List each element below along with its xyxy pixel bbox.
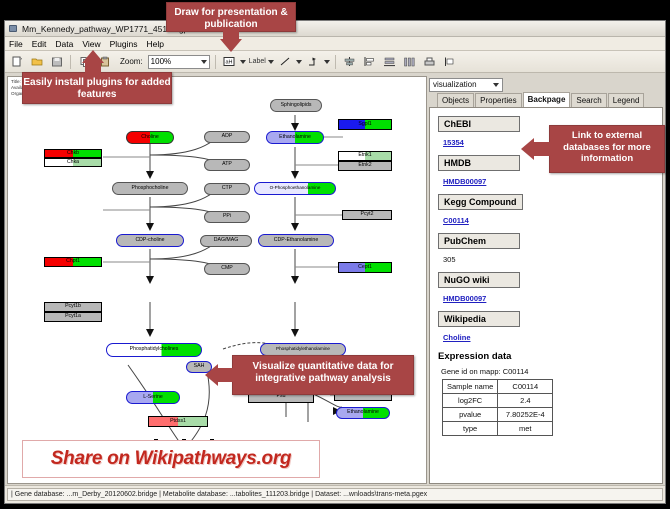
table-cell-key: pvalue xyxy=(443,408,498,422)
node-label: O-Phosphoethanolamine xyxy=(270,186,321,191)
status-bar: | Gene database: ...m_Derby_20120602.bri… xyxy=(5,485,665,503)
gene-chpt1[interactable]: Chpt1 xyxy=(44,257,102,267)
node-dagmag[interactable]: DAG/MAG xyxy=(200,235,252,247)
table-cell-value: met xyxy=(498,422,553,436)
node-cdp-choline[interactable]: CDP-choline xyxy=(116,234,184,247)
expression-table: Sample name C00114 log2FC 2.4 pvalue 7.8… xyxy=(442,379,553,436)
new-icon[interactable] xyxy=(8,53,25,70)
label-tool-dropdown[interactable]: Label xyxy=(249,58,274,65)
node-label: Choline xyxy=(141,135,159,140)
node-label: CMP xyxy=(221,266,233,271)
node-ethanolamine[interactable]: Ethanolamine xyxy=(266,131,324,144)
visualization-value: visualization xyxy=(433,80,477,89)
chevron-down-icon[interactable] xyxy=(240,60,246,64)
node-label: L-Serine xyxy=(143,395,163,400)
callout-text: Link to external databases for more info… xyxy=(563,130,651,164)
node-label: Phosphatidylethanolamine xyxy=(276,347,330,352)
table-cell-value: C00114 xyxy=(498,380,553,394)
callout-external: Link to external databases for more info… xyxy=(549,125,665,173)
shape-icon[interactable]: aH xyxy=(221,53,238,70)
callout-visualize: Visualize quantitative data for integrat… xyxy=(232,355,414,395)
gene-ptdss1[interactable]: Ptdss1 xyxy=(148,416,208,427)
database-link[interactable]: Choline xyxy=(443,333,471,342)
pathway-canvas[interactable]: Title: Availab Organi xyxy=(7,76,427,484)
gene-chkb[interactable]: Chkb xyxy=(44,149,102,158)
table-cell-key: Sample name xyxy=(443,380,498,394)
gene-id-label: Gene id on mapp: C00114 xyxy=(441,367,656,376)
node-label: DAG/MAG xyxy=(214,238,239,243)
node-l-serine-left[interactable]: L-Serine xyxy=(126,391,180,404)
open-icon[interactable] xyxy=(28,53,45,70)
table-row: pvalue 7.80252E-4 xyxy=(443,408,553,422)
node-label: Pcyt1b xyxy=(65,304,81,309)
node-label: CDP-Ethanolamine xyxy=(274,238,318,243)
database-name: ChEBI xyxy=(438,116,520,132)
database-link[interactable]: HMDB00097 xyxy=(443,294,486,303)
zoom-value: 100% xyxy=(151,57,171,66)
node-phosphocholine[interactable]: Phosphocholine xyxy=(112,182,188,195)
menu-item-view[interactable]: View xyxy=(82,39,100,49)
table-row: log2FC 2.4 xyxy=(443,394,553,408)
node-ppi[interactable]: PPi xyxy=(204,211,250,223)
shape-tool-dropdown[interactable]: aH xyxy=(221,53,246,70)
database-link[interactable]: HMDB00097 xyxy=(443,177,486,186)
chevron-down-icon xyxy=(493,83,499,87)
title-bar: Mm_Kennedy_pathway_WP1771_45176.gp xyxy=(5,21,665,37)
chevron-down-icon[interactable] xyxy=(268,60,274,64)
node-label: Cept1 xyxy=(358,265,372,270)
callout-draw: Draw for presentation & publication xyxy=(166,2,296,32)
node-label: Ethanolamine xyxy=(279,135,311,140)
print-icon[interactable] xyxy=(421,53,438,70)
gene-pcyt1b[interactable]: Pcyt1b xyxy=(44,302,102,312)
table-cell-key: log2FC xyxy=(443,394,498,408)
status-bar-field: | Gene database: ...m_Derby_20120602.bri… xyxy=(7,488,663,501)
menu-item-plugins[interactable]: Plugins xyxy=(110,39,138,49)
table-row: Sample name C00114 xyxy=(443,380,553,394)
save-icon[interactable] xyxy=(48,53,65,70)
node-ctp[interactable]: CTP xyxy=(204,183,250,195)
node-label: ADP xyxy=(222,134,233,139)
database-link[interactable]: 15354 xyxy=(443,138,464,147)
callout-plugins-arrow xyxy=(82,50,104,63)
table-cell-value: 7.80252E-4 xyxy=(498,408,553,422)
node-label: CDP-choline xyxy=(135,238,164,243)
toolbar-separator xyxy=(335,55,336,69)
node-label: SAH xyxy=(194,364,205,369)
align-left-icon[interactable] xyxy=(361,53,378,70)
callout-plugins: Easily install plugins for added feature… xyxy=(22,72,172,104)
database-section-pubchem: PubChem 305 xyxy=(438,231,656,267)
node-label: Chpt1 xyxy=(66,259,80,264)
label-tool-label: Label xyxy=(249,58,266,65)
menu-item-file[interactable]: File xyxy=(9,39,23,49)
chevron-down-icon xyxy=(201,60,207,64)
database-section-nugo: NuGO wiki HMDB00097 xyxy=(438,270,656,306)
node-label: Pcyt1a xyxy=(65,314,81,319)
callout-text: Visualize quantitative data for integrat… xyxy=(253,361,394,384)
arrow-tool-dropdown[interactable] xyxy=(305,53,330,70)
node-label: Etnk1 xyxy=(358,153,371,158)
database-name: NuGO wiki xyxy=(438,272,520,288)
visualization-select[interactable]: visualization xyxy=(429,78,503,92)
node-ethanolamine-bottom[interactable]: Ethanolamine xyxy=(336,407,390,419)
node-label: Chkb xyxy=(67,151,79,156)
chevron-down-icon[interactable] xyxy=(324,60,330,64)
window-title: Mm_Kennedy_pathway_WP1771_45176.gp xyxy=(22,24,188,34)
node-label: Ethanolamine xyxy=(347,410,379,415)
node-label: Etnk2 xyxy=(358,163,371,168)
gene-etnk1[interactable]: Etnk1 xyxy=(338,151,392,161)
toolbar-separator xyxy=(215,55,216,69)
callout-visualize-stem xyxy=(218,368,233,382)
node-label: Pcyt2 xyxy=(361,212,374,217)
expression-data-heading: Expression data xyxy=(438,351,656,362)
table-row: type met xyxy=(443,422,553,436)
node-label: Sgpl1 xyxy=(358,122,371,127)
menu-item-help[interactable]: Help xyxy=(147,39,164,49)
tab-objects[interactable]: Objects xyxy=(437,93,474,107)
database-name: PubChem xyxy=(438,233,520,249)
database-name: Kegg Compound xyxy=(438,194,523,210)
callout-external-arrow xyxy=(521,138,534,160)
node-sphingolipids[interactable]: Sphingolipids xyxy=(270,99,322,112)
node-label: Ptdss1 xyxy=(170,419,186,424)
database-section-wikipedia: Wikipedia Choline xyxy=(438,309,656,345)
wikipathways-banner-text: Share on Wikipathways.org xyxy=(51,448,291,470)
database-link[interactable]: C00114 xyxy=(443,216,469,225)
gene-cept1[interactable]: Cept1 xyxy=(338,262,392,273)
line-icon[interactable] xyxy=(277,53,294,70)
node-adp[interactable]: ADP xyxy=(204,131,250,143)
database-value: 305 xyxy=(443,255,456,264)
node-choline[interactable]: Choline xyxy=(126,131,174,144)
callout-text: Easily install plugins for added feature… xyxy=(23,77,170,100)
database-section-kegg: Kegg Compound C00114 xyxy=(438,192,656,228)
chevron-down-icon[interactable] xyxy=(296,60,302,64)
app-icon xyxy=(9,24,18,33)
callout-visualize-arrow xyxy=(205,364,218,386)
gene-pcyt1a[interactable]: Pcyt1a xyxy=(44,312,102,322)
group-icon[interactable] xyxy=(441,53,458,70)
gene-pcyt2[interactable]: Pcyt2 xyxy=(342,210,392,220)
callout-plugins-stem xyxy=(85,63,101,73)
distribute-vertical-icon[interactable] xyxy=(381,53,398,70)
tab-legend[interactable]: Legend xyxy=(608,93,645,107)
screenshot-root: Mm_Kennedy_pathway_WP1771_45176.gp File … xyxy=(0,0,670,509)
gene-etnk2[interactable]: Etnk2 xyxy=(338,161,392,171)
wikipathways-banner: Share on Wikipathways.org xyxy=(22,440,320,478)
table-cell-key: type xyxy=(443,422,498,436)
tab-search[interactable]: Search xyxy=(571,93,606,107)
node-label: PPi xyxy=(223,214,231,219)
arrow-icon[interactable] xyxy=(305,53,322,70)
node-label: Chka xyxy=(67,160,79,165)
node-label: CTP xyxy=(222,186,232,191)
menu-bar: File Edit Data View Plugins Help xyxy=(5,37,665,51)
callout-external-stem xyxy=(534,142,550,156)
gene-chka[interactable]: Chka xyxy=(44,158,102,167)
node-phosphatidylcholines[interactable]: Phosphatidylcholines xyxy=(106,343,202,357)
toolbar: Zoom: 100% aH Label xyxy=(5,51,665,73)
tab-backpage[interactable]: Backpage xyxy=(523,92,571,107)
node-o-phosphoethanolamine[interactable]: O-Phosphoethanolamine xyxy=(254,182,336,195)
toolbar-separator xyxy=(70,55,71,69)
callout-text: Draw for presentation & publication xyxy=(174,7,287,30)
table-cell-value: 2.4 xyxy=(498,394,553,408)
status-bar-text: | Gene database: ...m_Derby_20120602.bri… xyxy=(11,491,427,498)
node-label: ATP xyxy=(222,162,232,167)
node-label: Sphingolipids xyxy=(281,103,312,108)
gene-sgpl1[interactable]: Sgpl1 xyxy=(338,119,392,130)
node-label: Phosphatidylcholines xyxy=(130,347,179,352)
panel-tabs: Objects Properties Backpage Search Legen… xyxy=(429,93,663,107)
callout-draw-stem xyxy=(223,30,239,39)
tab-properties[interactable]: Properties xyxy=(475,93,521,107)
menu-item-data[interactable]: Data xyxy=(55,39,73,49)
node-atp[interactable]: ATP xyxy=(204,159,250,171)
menu-item-edit[interactable]: Edit xyxy=(32,39,47,49)
svg-text:aH: aH xyxy=(226,60,233,66)
zoom-label: Zoom: xyxy=(120,57,143,66)
database-name: Wikipedia xyxy=(438,311,520,327)
database-name: HMDB xyxy=(438,155,520,171)
line-tool-dropdown[interactable] xyxy=(277,53,302,70)
distribute-horizontal-icon[interactable] xyxy=(401,53,418,70)
callout-draw-arrow xyxy=(220,39,242,52)
node-label: Phosphocholine xyxy=(132,186,169,191)
align-center-icon[interactable] xyxy=(341,53,358,70)
visualization-row: visualization xyxy=(429,76,663,93)
node-cmp[interactable]: CMP xyxy=(204,263,250,275)
zoom-combobox[interactable]: 100% xyxy=(148,55,210,69)
node-cdp-ethanolamine[interactable]: CDP-Ethanolamine xyxy=(258,234,334,247)
